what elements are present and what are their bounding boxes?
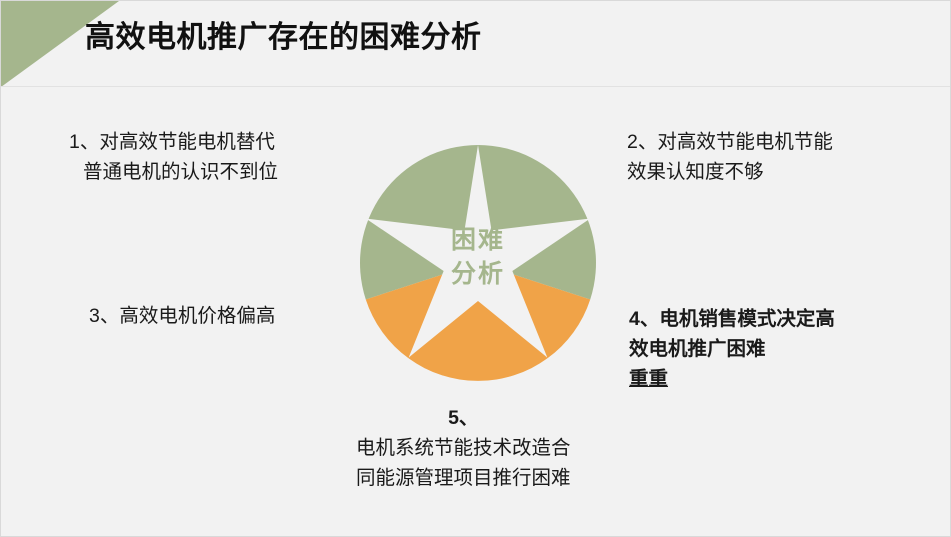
callout-item-5: 5、电机系统节能技术改造合 同能源管理项目推行困难 — [356, 403, 571, 493]
callout-item-2: 2、对高效节能电机节能 效果认知度不够 — [627, 127, 833, 187]
callout-5-line-1-text: 电机系统节能技术改造合 — [356, 433, 571, 463]
callout-4-line-1: 4、电机销售模式决定高 — [629, 304, 835, 334]
slide-title-band: 高效电机推广存在的困难分析 — [1, 1, 951, 87]
page-title: 高效电机推广存在的困难分析 — [85, 18, 482, 58]
callout-2-line-1: 2、对高效节能电机节能 — [627, 127, 833, 157]
callout-5-number: 5、 — [356, 403, 571, 433]
title-divider — [1, 86, 951, 87]
callout-5-line-1: 5、电机系统节能技术改造合 — [356, 403, 571, 463]
center-label-line2: 分析 — [344, 257, 612, 291]
callout-5-line-2: 同能源管理项目推行困难 — [356, 463, 571, 493]
callout-1-line-2: 普通电机的认识不到位 — [69, 157, 278, 187]
callout-item-1: 1、对高效节能电机替代 普通电机的认识不到位 — [69, 127, 278, 187]
callout-item-4: 4、电机销售模式决定高 效电机推广困难重重 — [629, 304, 835, 394]
callout-4-line-2-plain: 效电机推广困难 — [629, 334, 835, 364]
center-label-line1: 困难 — [344, 223, 612, 257]
callout-4-emphasis: 重重 — [629, 364, 835, 394]
callout-3-line-1: 3、高效电机价格偏高 — [89, 301, 275, 331]
callout-2-line-2: 效果认知度不够 — [627, 157, 833, 187]
callout-4-line-2: 效电机推广困难重重 — [629, 334, 835, 394]
callout-1-line-1: 1、对高效节能电机替代 — [69, 127, 278, 157]
slide-canvas: 高效电机推广存在的困难分析 — [0, 0, 951, 537]
callout-item-3: 3、高效电机价格偏高 — [89, 301, 275, 331]
diagram-center-label: 困难 分析 — [344, 223, 612, 291]
